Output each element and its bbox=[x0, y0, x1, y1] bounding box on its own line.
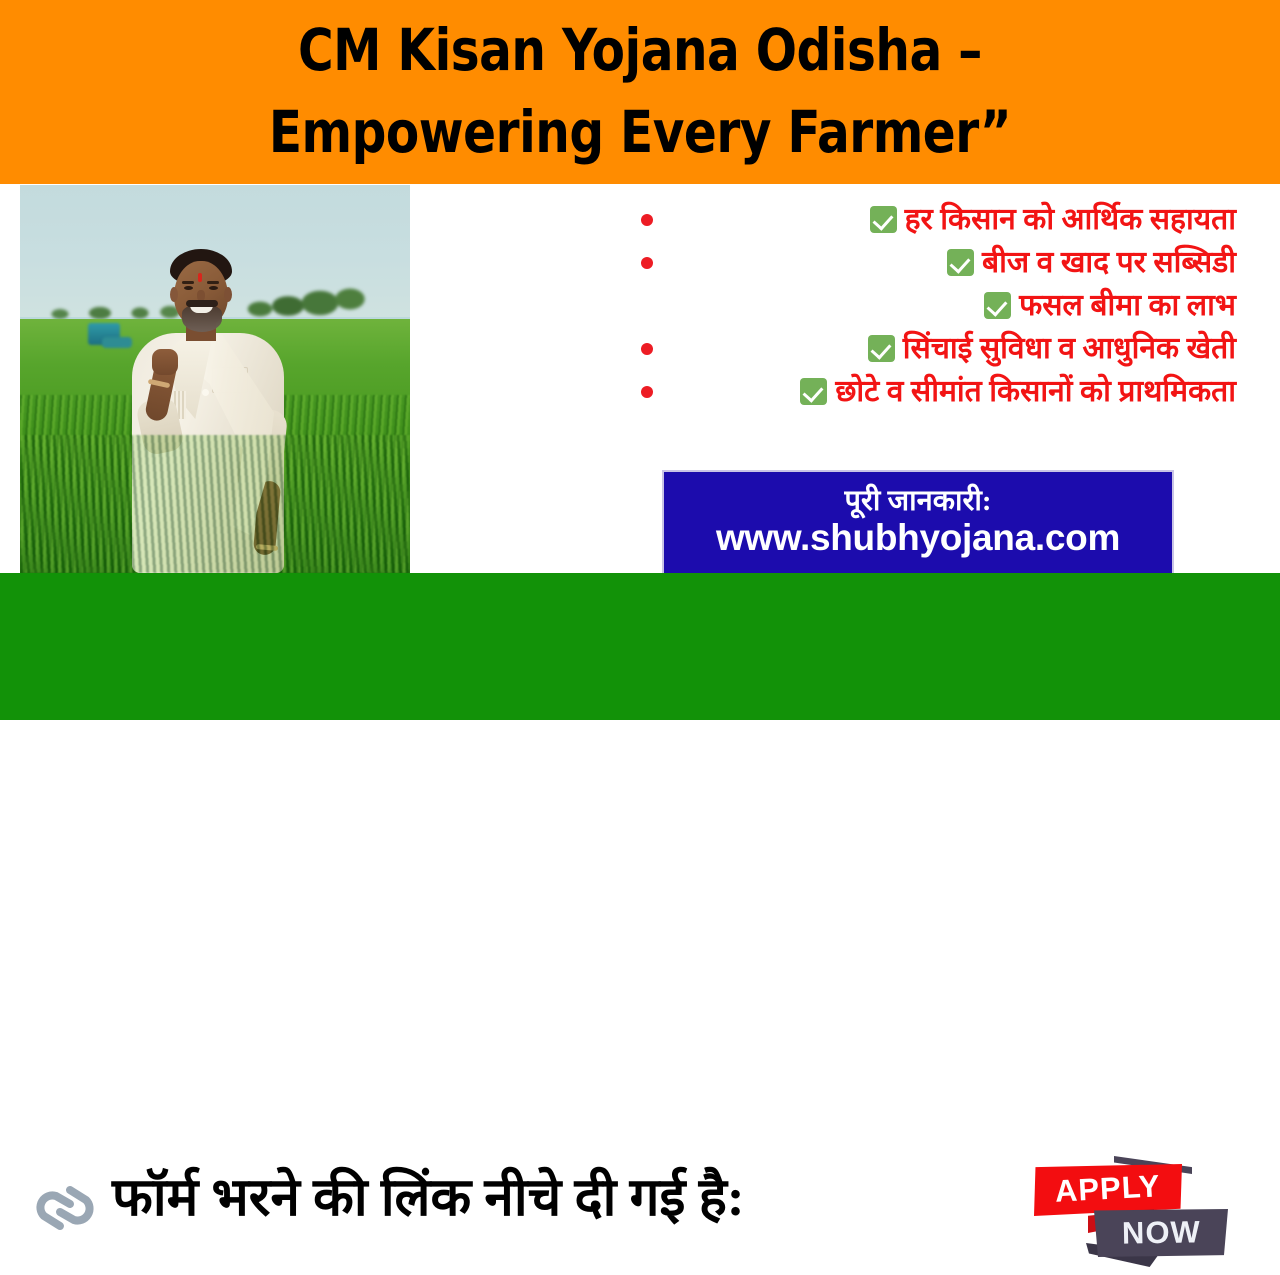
list-item-text: छोटे व सीमांत किसानों को प्राथमिकता bbox=[664, 377, 1250, 407]
header-banner: CM Kisan Yojana Odisha – Empowering Ever… bbox=[0, 0, 1280, 184]
page-title: CM Kisan Yojana Odisha – Empowering Ever… bbox=[175, 9, 1105, 174]
list-item-text: बीज व खाद पर सब्सिडी bbox=[664, 248, 1250, 278]
list-item: फसल बीमा का लाभ bbox=[630, 284, 1250, 327]
link-chain-icon bbox=[30, 1176, 100, 1240]
photo-left-fist bbox=[152, 349, 178, 375]
bullet-marker bbox=[630, 386, 664, 398]
badge-ribbon-apply[interactable]: APPLY bbox=[1034, 1164, 1182, 1216]
badge-ribbon-now[interactable]: NOW bbox=[1094, 1209, 1228, 1257]
badge-label-now: NOW bbox=[1121, 1214, 1200, 1251]
benefit-label: सिंचाई सुविधा व आधुनिक खेती bbox=[903, 334, 1236, 364]
website-url[interactable]: www.shubhyojana.com bbox=[716, 518, 1120, 559]
photo-eyebrow-left bbox=[182, 281, 194, 284]
photo-eyebrow-right bbox=[207, 281, 219, 284]
list-item: छोटे व सीमांत किसानों को प्राथमिकता bbox=[630, 370, 1250, 413]
photo-rice-blades-front bbox=[20, 435, 410, 573]
badge-label-apply: APPLY bbox=[1054, 1168, 1161, 1209]
photo-eye-right bbox=[209, 286, 218, 290]
photo-kurta-button-2 bbox=[202, 389, 209, 396]
bullet-marker-hidden bbox=[630, 300, 664, 312]
list-item-text: सिंचाई सुविधा व आधुनिक खेती bbox=[664, 334, 1250, 364]
benefit-label: हर किसान को आर्थिक सहायता bbox=[905, 205, 1236, 235]
list-item: बीज व खाद पर सब्सिडी bbox=[630, 241, 1250, 284]
benefit-label: बीज व खाद पर सब्सिडी bbox=[982, 248, 1236, 278]
check-mark-icon bbox=[947, 249, 974, 276]
photo-ear-left bbox=[170, 287, 178, 302]
list-item: सिंचाई सुविधा व आधुनिक खेती bbox=[630, 327, 1250, 370]
bullet-marker bbox=[630, 343, 664, 355]
benefit-label: फसल बीमा का लाभ bbox=[1019, 291, 1236, 321]
photo-tilak bbox=[198, 273, 202, 282]
check-mark-icon bbox=[870, 206, 897, 233]
footer-text: फॉर्म भरने की लिंक नीचे दी गई है: bbox=[112, 1169, 1012, 1227]
bullet-marker bbox=[630, 257, 664, 269]
benefit-label: छोटे व सीमांत किसानों को प्राथमिकता bbox=[835, 377, 1236, 407]
photo-eye-left bbox=[184, 286, 193, 290]
photo-moustache bbox=[186, 300, 218, 307]
list-item: हर किसान को आर्थिक सहायता bbox=[630, 198, 1250, 241]
check-mark-icon bbox=[868, 335, 895, 362]
photo-ear-right bbox=[224, 287, 232, 302]
info-box: पूरी जानकारी: www.shubhyojana.com bbox=[662, 470, 1174, 573]
check-mark-icon bbox=[800, 378, 827, 405]
benefits-list: हर किसान को आर्थिक सहायता बीज व खाद पर स… bbox=[630, 198, 1250, 413]
apply-now-button[interactable]: APPLY NOW bbox=[1030, 1153, 1235, 1275]
list-item-text: फसल बीमा का लाभ bbox=[664, 291, 1250, 321]
check-mark-icon bbox=[984, 292, 1011, 319]
list-item-text: हर किसान को आर्थिक सहायता bbox=[664, 205, 1250, 235]
footer-bar: फॉर्म भरने की लिंक नीचे दी गई है: APPLY … bbox=[0, 573, 1280, 720]
farmer-photo bbox=[20, 185, 410, 573]
info-box-label: पूरी जानकारी: bbox=[844, 486, 991, 516]
bullet-marker bbox=[630, 214, 664, 226]
